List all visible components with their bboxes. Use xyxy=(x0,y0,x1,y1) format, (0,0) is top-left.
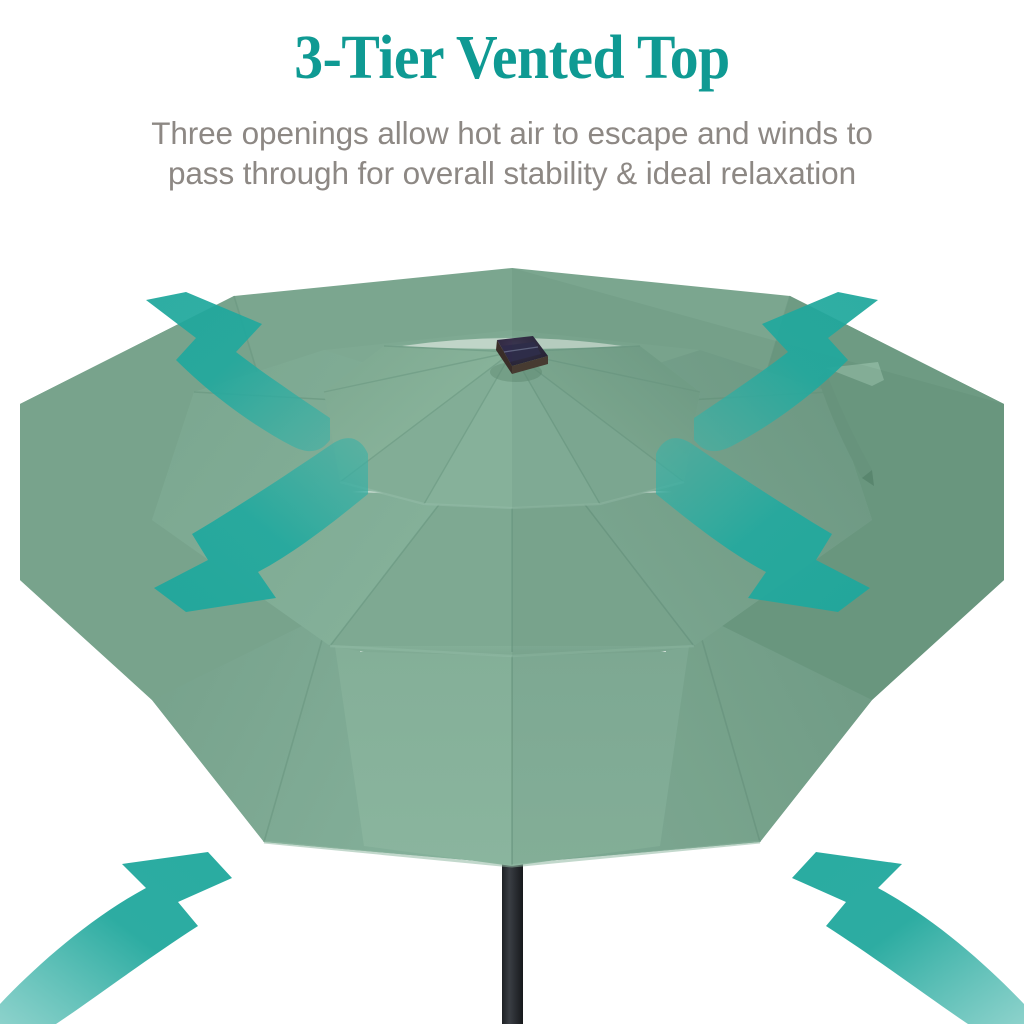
promo-graphic: 3-Tier Vented Top Three openings allow h… xyxy=(0,0,1024,1024)
header-text-block: 3-Tier Vented Top Three openings allow h… xyxy=(0,0,1024,194)
page-title: 3-Tier Vented Top xyxy=(36,0,988,91)
canopy-shadow xyxy=(512,268,1004,864)
subtitle: Three openings allow hot air to escape a… xyxy=(52,91,972,194)
subtitle-line-1: Three openings allow hot air to escape a… xyxy=(52,113,972,153)
umbrella-pole xyxy=(502,845,523,1024)
subtitle-line-2: pass through for overall stability & ide… xyxy=(52,153,972,193)
